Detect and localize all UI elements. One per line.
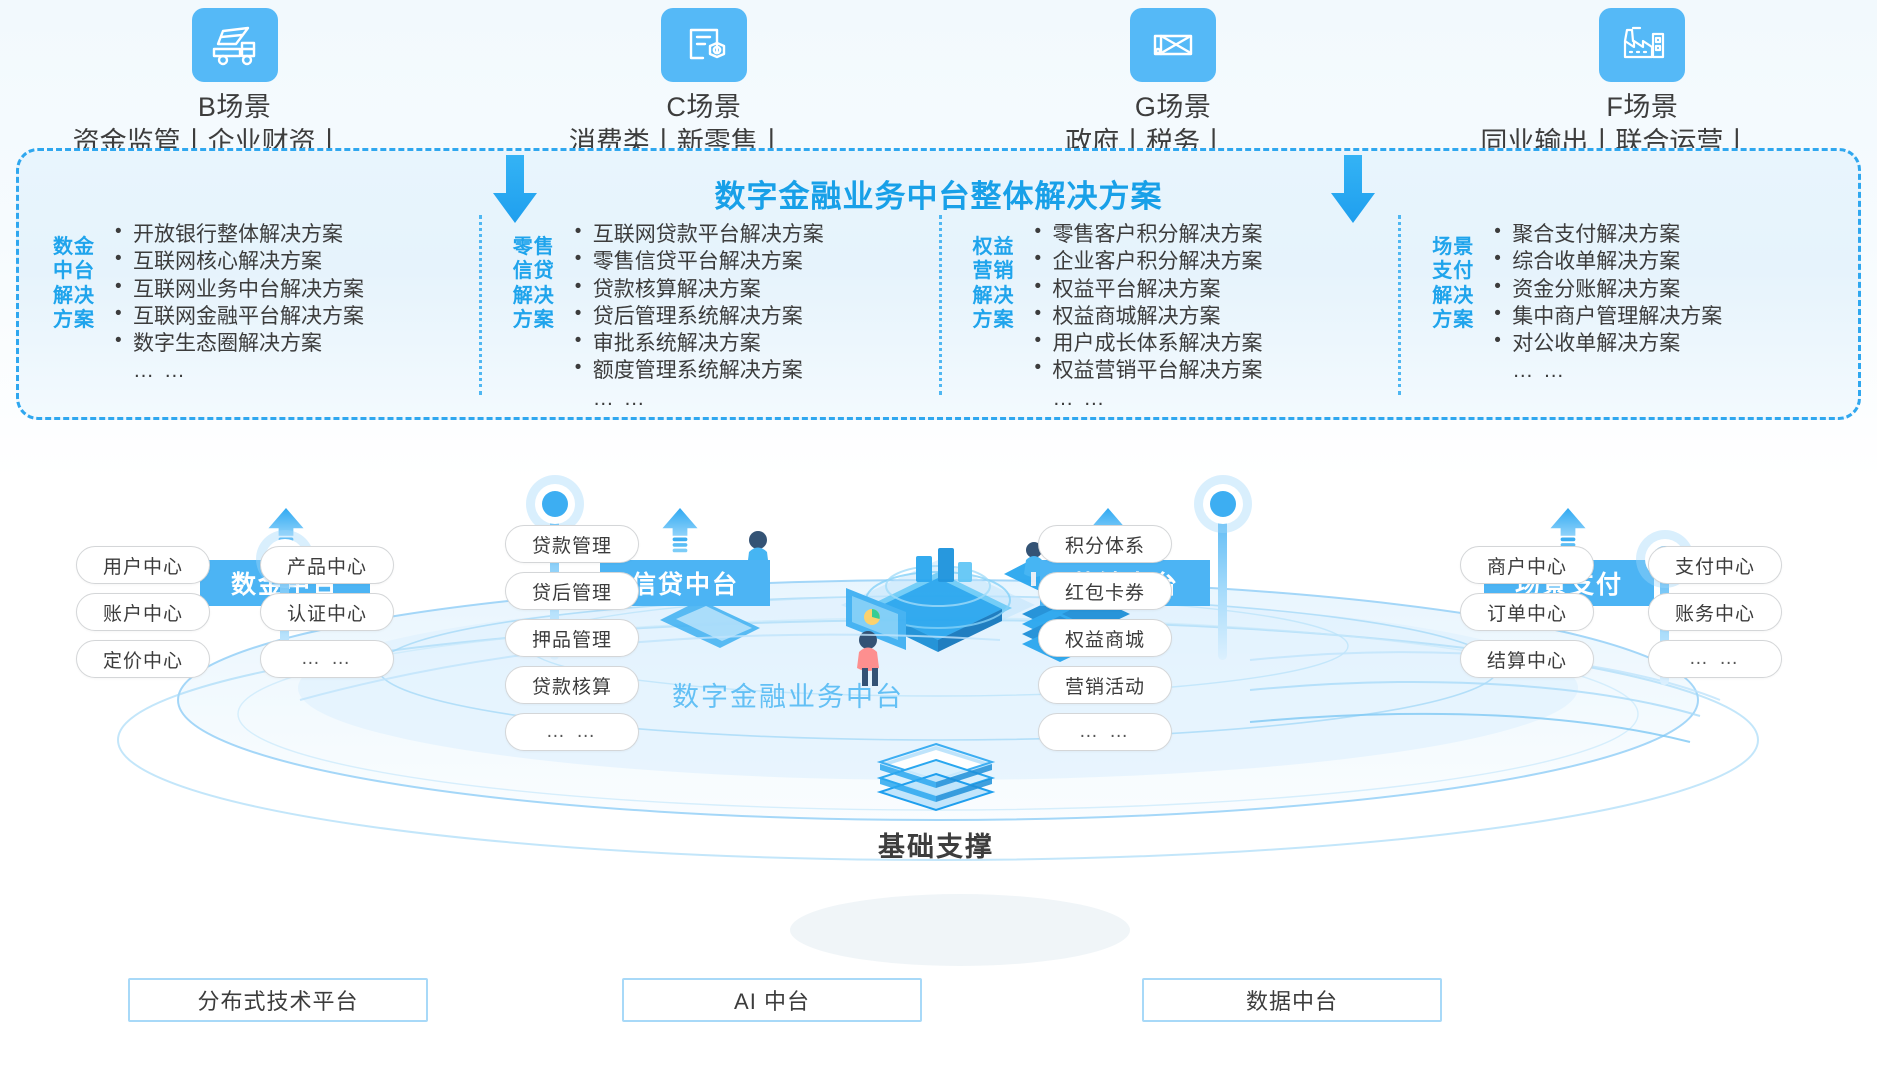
list-item: 资金分账解决方案 [1492,276,1852,303]
panel-column-label: 权益 营销 解决 方案 [963,221,1025,333]
list-item: 权益营销平台解决方案 [1033,357,1393,384]
capability-pill[interactable]: 贷后管理 [505,572,639,610]
list-ellipsis: … … [573,385,933,412]
capability-pill[interactable]: 账户中心 [76,593,210,631]
list-item: 贷后管理系统解决方案 [573,303,933,330]
capability-pill[interactable]: 支付中心 [1648,546,1782,584]
panel-column-label: 场景 支付 解决 方案 [1422,221,1484,333]
capability-pill[interactable]: 营销活动 [1038,666,1172,704]
list-item: 对公收单解决方案 [1492,330,1852,357]
list-item: 权益平台解决方案 [1033,276,1393,303]
panel-column-list: 开放银行整体解决方案 互联网核心解决方案 互联网业务中台解决方案 互联网金融平台… [113,221,479,385]
capability-pill[interactable]: 产品中心 [260,546,394,584]
capability-pill[interactable]: 结算中心 [1460,640,1594,678]
panel-column-label: 零售 信贷 解决 方案 [503,221,565,333]
list-item: 集中商户管理解决方案 [1492,303,1852,330]
panel-column-scenario-payment: 场景 支付 解决 方案 聚合支付解决方案 综合收单解决方案 资金分账解决方案 集… [1398,213,1858,419]
solution-panel: 数字金融业务中台整体解决方案 数金 中台 解决 方案 开放银行整体解决方案 互联… [16,148,1861,420]
panel-column-rights-marketing: 权益 营销 解决 方案 零售客户积分解决方案 企业客户积分解决方案 权益平台解决… [939,213,1399,419]
factory-icon [1599,8,1685,82]
list-item: 额度管理系统解决方案 [573,357,933,384]
capability-pill[interactable]: 商户中心 [1460,546,1594,584]
capability-pill[interactable]: 订单中心 [1460,593,1594,631]
capability-pill[interactable]: 红包卡券 [1038,572,1172,610]
capability-pill-ellipsis[interactable]: … … [260,640,394,678]
foundation-box-distributed-platform[interactable]: 分布式技术平台 [128,978,428,1022]
document-search-icon [661,8,747,82]
foundation-label: 基础支撑 [866,825,1006,864]
panel-title: 数字金融业务中台整体解决方案 [19,171,1858,216]
list-item: 零售信贷平台解决方案 [573,248,933,275]
list-ellipsis: … … [113,357,473,384]
capability-pill[interactable]: 认证中心 [260,593,394,631]
list-item: 聚合支付解决方案 [1492,221,1852,248]
list-item: 数字生态圈解决方案 [113,330,473,357]
panel-columns: 数金 中台 解决 方案 开放银行整体解决方案 互联网核心解决方案 互联网业务中台… [19,213,1858,419]
panel-column-retail-credit: 零售 信贷 解决 方案 互联网贷款平台解决方案 零售信贷平台解决方案 贷款核算解… [479,213,939,419]
capability-pill[interactable]: 贷款核算 [505,666,639,704]
list-item: 贷款核算解决方案 [573,276,933,303]
list-item: 互联网金融平台解决方案 [113,303,473,330]
capability-pill-ellipsis[interactable]: … … [505,713,639,751]
truck-cargo-icon [192,8,278,82]
foundation-box-ai-platform[interactable]: AI 中台 [622,978,922,1022]
capability-pill[interactable]: 押品管理 [505,619,639,657]
scenario-title: G场景 [1135,92,1212,123]
capability-pill[interactable]: 账务中心 [1648,593,1782,631]
capability-pill[interactable]: 用户中心 [76,546,210,584]
panel-column-list: 零售客户积分解决方案 企业客户积分解决方案 权益平台解决方案 权益商城解决方案 … [1033,221,1399,412]
list-item: 审批系统解决方案 [573,330,933,357]
map-flag-icon [1130,8,1216,82]
list-ellipsis: … … [1033,385,1393,412]
capability-pill[interactable]: 定价中心 [76,640,210,678]
list-item: 用户成长体系解决方案 [1033,330,1393,357]
list-item: 互联网贷款平台解决方案 [573,221,933,248]
arrow-down-c-scenario [492,155,538,225]
panel-column-list: 聚合支付解决方案 综合收单解决方案 资金分账解决方案 集中商户管理解决方案 对公… [1492,221,1858,385]
capability-pill-ellipsis[interactable]: … … [1038,713,1172,751]
arrow-down-f-scenario [1330,155,1376,225]
scenario-title: B场景 [198,92,272,123]
scenario-title: C场景 [666,92,741,123]
capability-pill[interactable]: 权益商城 [1038,619,1172,657]
layers-stack-icon [866,740,1006,820]
list-item: 权益商城解决方案 [1033,303,1393,330]
scenario-title: F场景 [1606,92,1678,123]
capability-pill[interactable]: 积分体系 [1038,525,1172,563]
center-platform-label: 数字金融业务中台 [672,675,904,714]
panel-column-label: 数金 中台 解决 方案 [43,221,105,333]
list-item: 企业客户积分解决方案 [1033,248,1393,275]
list-ellipsis: … … [1492,357,1852,384]
panel-column-digital-finance: 数金 中台 解决 方案 开放银行整体解决方案 互联网核心解决方案 互联网业务中台… [19,213,479,419]
list-item: 综合收单解决方案 [1492,248,1852,275]
panel-column-list: 互联网贷款平台解决方案 零售信贷平台解决方案 贷款核算解决方案 贷后管理系统解决… [573,221,939,412]
capability-pill[interactable]: 贷款管理 [505,525,639,563]
capability-pill-ellipsis[interactable]: … … [1648,640,1782,678]
list-item: 零售客户积分解决方案 [1033,221,1393,248]
node-marketing [1194,475,1252,533]
list-item: 互联网业务中台解决方案 [113,276,473,303]
foundation-box-data-platform[interactable]: 数据中台 [1142,978,1442,1022]
list-item: 互联网核心解决方案 [113,248,473,275]
list-item: 开放银行整体解决方案 [113,221,473,248]
